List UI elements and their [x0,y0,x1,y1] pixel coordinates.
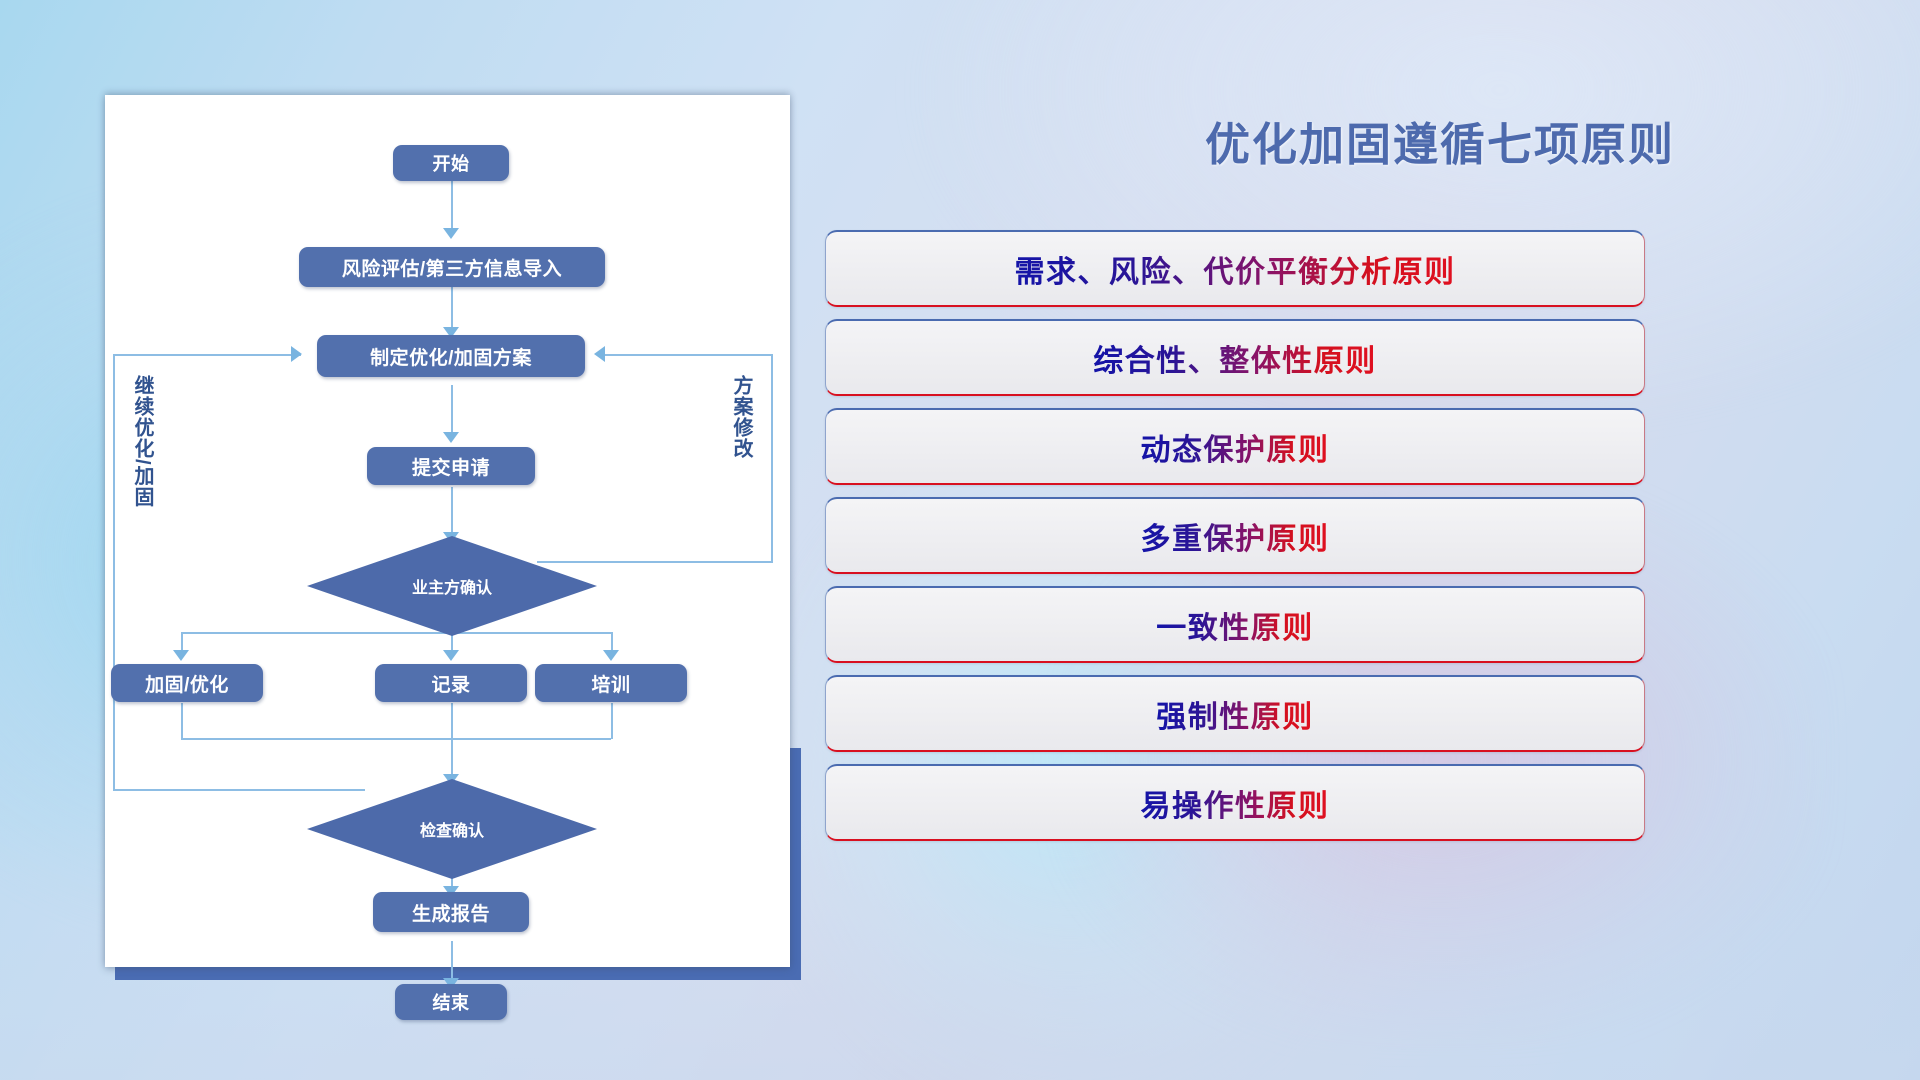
principle-label: 动态保护原则 [1141,425,1330,469]
arrowhead-risk [443,228,459,239]
arrowhead-plan-from-left [291,346,302,362]
connector-reinforce-down [181,703,183,739]
principles-list: 需求、风险、代价平衡分析原则 综合性、整体性原则 动态保护原则 多重保护原则 一… [825,230,1645,853]
principle-card-5[interactable]: 一致性原则 [825,586,1645,663]
connector-plan-to-submit [451,385,453,437]
flow-node-end[interactable]: 结束 [395,984,507,1020]
connector-start-to-risk [451,180,453,233]
connector-report-to-end [451,941,453,983]
connector-loop-right-top [605,354,772,356]
arrowhead-record [443,650,459,661]
arrowhead-plan-from-right [594,346,605,362]
principle-card-1[interactable]: 需求、风险、代价平衡分析原则 [825,230,1645,307]
connector-merge-bar [181,738,611,740]
flow-node-record[interactable]: 记录 [375,664,527,702]
flow-node-check-confirm[interactable]: 检查确认 [307,779,597,879]
principle-card-7[interactable]: 易操作性原则 [825,764,1645,841]
connector-record-to-check [451,703,453,779]
connector-training-down [611,703,613,739]
principles-title: 优化加固遵循七项原则 [960,108,1920,173]
principle-label: 多重保护原则 [1141,514,1330,558]
flow-node-training[interactable]: 培训 [535,664,687,702]
connector-loop-left-bottom [113,789,365,791]
principle-label: 需求、风险、代价平衡分析原则 [1015,247,1456,291]
principle-card-6[interactable]: 强制性原则 [825,675,1645,752]
arrowhead-submit [443,432,459,443]
connector-loop-left-vertical [113,354,115,790]
principle-card-2[interactable]: 综合性、整体性原则 [825,319,1645,396]
connector-loop-left-top [113,354,301,356]
connector-loop-right-bottom [537,561,773,563]
principle-label: 一致性原则 [1156,603,1314,647]
principle-card-3[interactable]: 动态保护原则 [825,408,1645,485]
principle-label: 综合性、整体性原则 [1093,336,1377,380]
flow-node-start[interactable]: 开始 [393,145,509,181]
connector-fanout-bar [181,632,611,634]
principles-panel: 优化加固遵循七项原则 需求、风险、代价平衡分析原则 综合性、整体性原则 动态保护… [960,0,1920,1080]
flow-node-plan[interactable]: 制定优化/加固方案 [317,335,585,377]
principle-card-4[interactable]: 多重保护原则 [825,497,1645,574]
flowchart-card: 开始 风险评估/第三方信息导入 制定优化/加固方案 提交申请 业主方确认 加固/… [105,95,790,967]
flow-node-risk-assessment[interactable]: 风险评估/第三方信息导入 [299,247,605,287]
arrowhead-training [603,650,619,661]
flow-node-reinforce-optimize[interactable]: 加固/优化 [111,664,263,702]
principle-label: 易操作性原则 [1141,781,1330,825]
arrowhead-reinforce [173,650,189,661]
flow-node-owner-confirm[interactable]: 业主方确认 [307,536,597,636]
flowchart-panel: 开始 风险评估/第三方信息导入 制定优化/加固方案 提交申请 业主方确认 加固/… [0,0,960,1080]
connector-loop-right-vertical [771,354,773,562]
flow-node-generate-report[interactable]: 生成报告 [373,892,529,932]
principle-label: 强制性原则 [1156,692,1314,736]
flow-node-submit-application[interactable]: 提交申请 [367,447,535,485]
edge-label-plan-revision: 方案修改 [730,375,751,459]
connector-submit-to-owner [451,487,453,537]
edge-label-continue-optimize: 继续优化/加固 [131,375,152,508]
